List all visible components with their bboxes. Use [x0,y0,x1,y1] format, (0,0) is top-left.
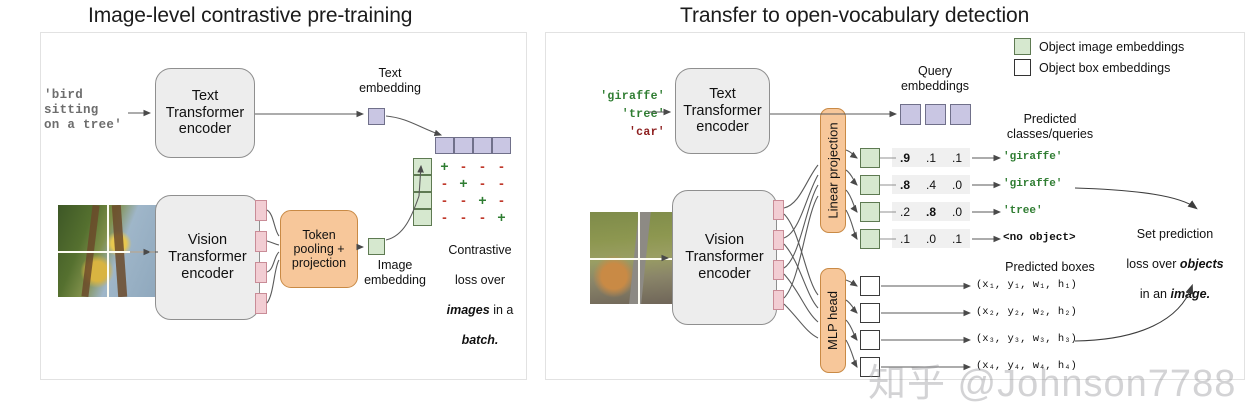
object-image-embedding-cell [860,148,880,168]
score-value: .8 [892,178,918,192]
batch-text-embedding-cell [435,137,454,154]
matrix-positive-cell: + [454,175,473,192]
query-prompt-car: 'car' [575,126,665,139]
contrastive-loss-caption: Contrastive loss over images in a batch. [430,228,530,363]
matrix-negative-cell: - [492,192,511,209]
batch-text-embedding-cell [454,137,473,154]
predicted-boxes-label: Predicted boxes [980,260,1120,275]
batch-text-embedding-cell [473,137,492,154]
bird-input-image [58,205,156,297]
contrastive-similarity-matrix: +----+----+----+ [435,158,511,226]
token-cell [773,200,784,220]
sp-loss-line-2: loss over objects [1110,257,1240,272]
right-vision-transformer-encoder: Vision Transformer encoder [672,190,777,325]
image-embedding-cell [368,238,385,255]
loss-em-batch: batch. [462,333,499,347]
matrix-positive-cell: + [435,158,454,175]
object-box-embedding-cell [860,330,880,350]
token-cell [255,262,267,283]
matrix-row: -+-- [435,175,511,192]
score-value: .0 [918,232,944,246]
left-panel-title: Image-level contrastive pre-training [88,4,412,28]
token-cell [255,200,267,221]
left-text-transformer-encoder: Text Transformer encoder [155,68,255,158]
score-value: .1 [944,232,970,246]
predicted-class-label: <no object> [1003,232,1076,244]
sp-loss-line-3-rest: in an [1140,287,1171,301]
linear-projection-module: Linear projection [820,108,846,233]
query-embedding-cell [950,104,971,125]
legend-swatch-green [1014,38,1031,55]
query-prompt-tree: 'tree' [575,108,665,121]
object-box-embedding-cell [860,303,880,323]
token-cell [255,231,267,252]
score-value: .8 [918,205,944,219]
predicted-class-label: 'giraffe' [1003,151,1062,163]
set-prediction-loss-caption: Set prediction loss over objects in an i… [1110,212,1240,317]
patch-grid-horizontal [58,251,156,253]
left-vision-transformer-encoder: Vision Transformer encoder [155,195,260,320]
loss-line-3: images in a [430,303,530,318]
object-image-embedding-cell [860,229,880,249]
matrix-row: +--- [435,158,511,175]
score-value: .1 [944,151,970,165]
score-row: .1.0.1 [892,229,970,248]
matrix-negative-cell: - [435,209,454,226]
image-embedding-label: Image embedding [355,258,435,288]
watermark: 知乎 @Johnson7788 [868,352,1236,407]
sp-loss-line-3: in an image. [1110,287,1240,302]
predicted-box-coords: (x₁, y₁, w₁, h₁) [976,279,1077,291]
legend-item-object-image-embeddings: Object image embeddings [1014,38,1184,55]
score-row: .9.1.1 [892,148,970,167]
mlp-head-label: MLP head [826,291,841,350]
token-cell [773,260,784,280]
matrix-negative-cell: - [454,192,473,209]
token-cell [255,293,267,314]
matrix-negative-cell: - [454,209,473,226]
loss-line-4: batch. [430,333,530,348]
object-box-embedding-cell [860,276,880,296]
matrix-negative-cell: - [473,175,492,192]
token-cell [773,230,784,250]
legend: Object image embeddings Object box embed… [1014,38,1184,80]
loss-em-images: images [447,303,490,317]
sp-loss-em-image: image. [1170,287,1210,301]
mlp-head-module: MLP head [820,268,846,373]
matrix-negative-cell: - [454,158,473,175]
batch-image-embedding-cell [413,158,432,175]
loss-line-1: Contrastive [430,243,530,258]
matrix-negative-cell: - [492,175,511,192]
score-value: .1 [892,232,918,246]
sp-loss-em-objects: objects [1180,257,1224,271]
batch-text-embedding-cell [492,137,511,154]
matrix-row: ---+ [435,209,511,226]
predicted-box-coords: (x₃, y₃, w₃, h₃) [976,333,1077,345]
token-cell [773,290,784,310]
query-embeddings-label: Query embeddings [885,64,985,94]
linear-projection-label: Linear projection [826,122,841,218]
legend-item-object-box-embeddings: Object box embeddings [1014,59,1184,76]
query-prompt-giraffe: 'giraffe' [575,90,665,103]
score-value: .2 [892,205,918,219]
score-value: .0 [944,205,970,219]
score-row: .2.8.0 [892,202,970,221]
score-value: .1 [918,151,944,165]
text-embedding-cell [368,108,385,125]
matrix-negative-cell: - [435,192,454,209]
batch-image-embedding-cell [413,209,432,226]
right-panel-title: Transfer to open-vocabulary detection [680,4,1029,28]
matrix-negative-cell: - [473,158,492,175]
score-row: .8.4.0 [892,175,970,194]
right-text-transformer-encoder: Text Transformer encoder [675,68,770,154]
loss-line-2: loss over [430,273,530,288]
batch-image-embedding-cell [413,192,432,209]
sp-loss-line-1: Set prediction [1110,227,1240,242]
left-text-prompt: 'bird sitting on a tree' [44,88,122,133]
predicted-classes-label: Predicted classes/queries [985,112,1115,142]
score-value: .4 [918,178,944,192]
legend-label: Object image embeddings [1039,40,1184,54]
matrix-row: --+- [435,192,511,209]
object-image-embedding-cell [860,175,880,195]
legend-label: Object box embeddings [1039,61,1170,75]
matrix-negative-cell: - [492,158,511,175]
text-embedding-label: Text embedding [345,66,435,96]
figure-canvas: Image-level contrastive pre-training 'bi… [0,0,1258,416]
matrix-negative-cell: - [473,209,492,226]
predicted-class-label: 'tree' [1003,205,1043,217]
matrix-positive-cell: + [473,192,492,209]
legend-swatch-white [1014,59,1031,76]
score-value: .9 [892,151,918,165]
predicted-class-label: 'giraffe' [1003,178,1062,190]
score-value: .0 [944,178,970,192]
loss-line-3-rest: in a [490,303,514,317]
query-embedding-cell [900,104,921,125]
batch-image-embedding-cell [413,175,432,192]
predicted-box-coords: (x₂, y₂, w₂, h₂) [976,306,1077,318]
token-pooling-projection-module: Token pooling + projection [280,210,358,288]
matrix-positive-cell: + [492,209,511,226]
query-embedding-cell [925,104,946,125]
object-image-embedding-cell [860,202,880,222]
matrix-negative-cell: - [435,175,454,192]
sp-loss-line-2-rest: loss over [1126,257,1180,271]
